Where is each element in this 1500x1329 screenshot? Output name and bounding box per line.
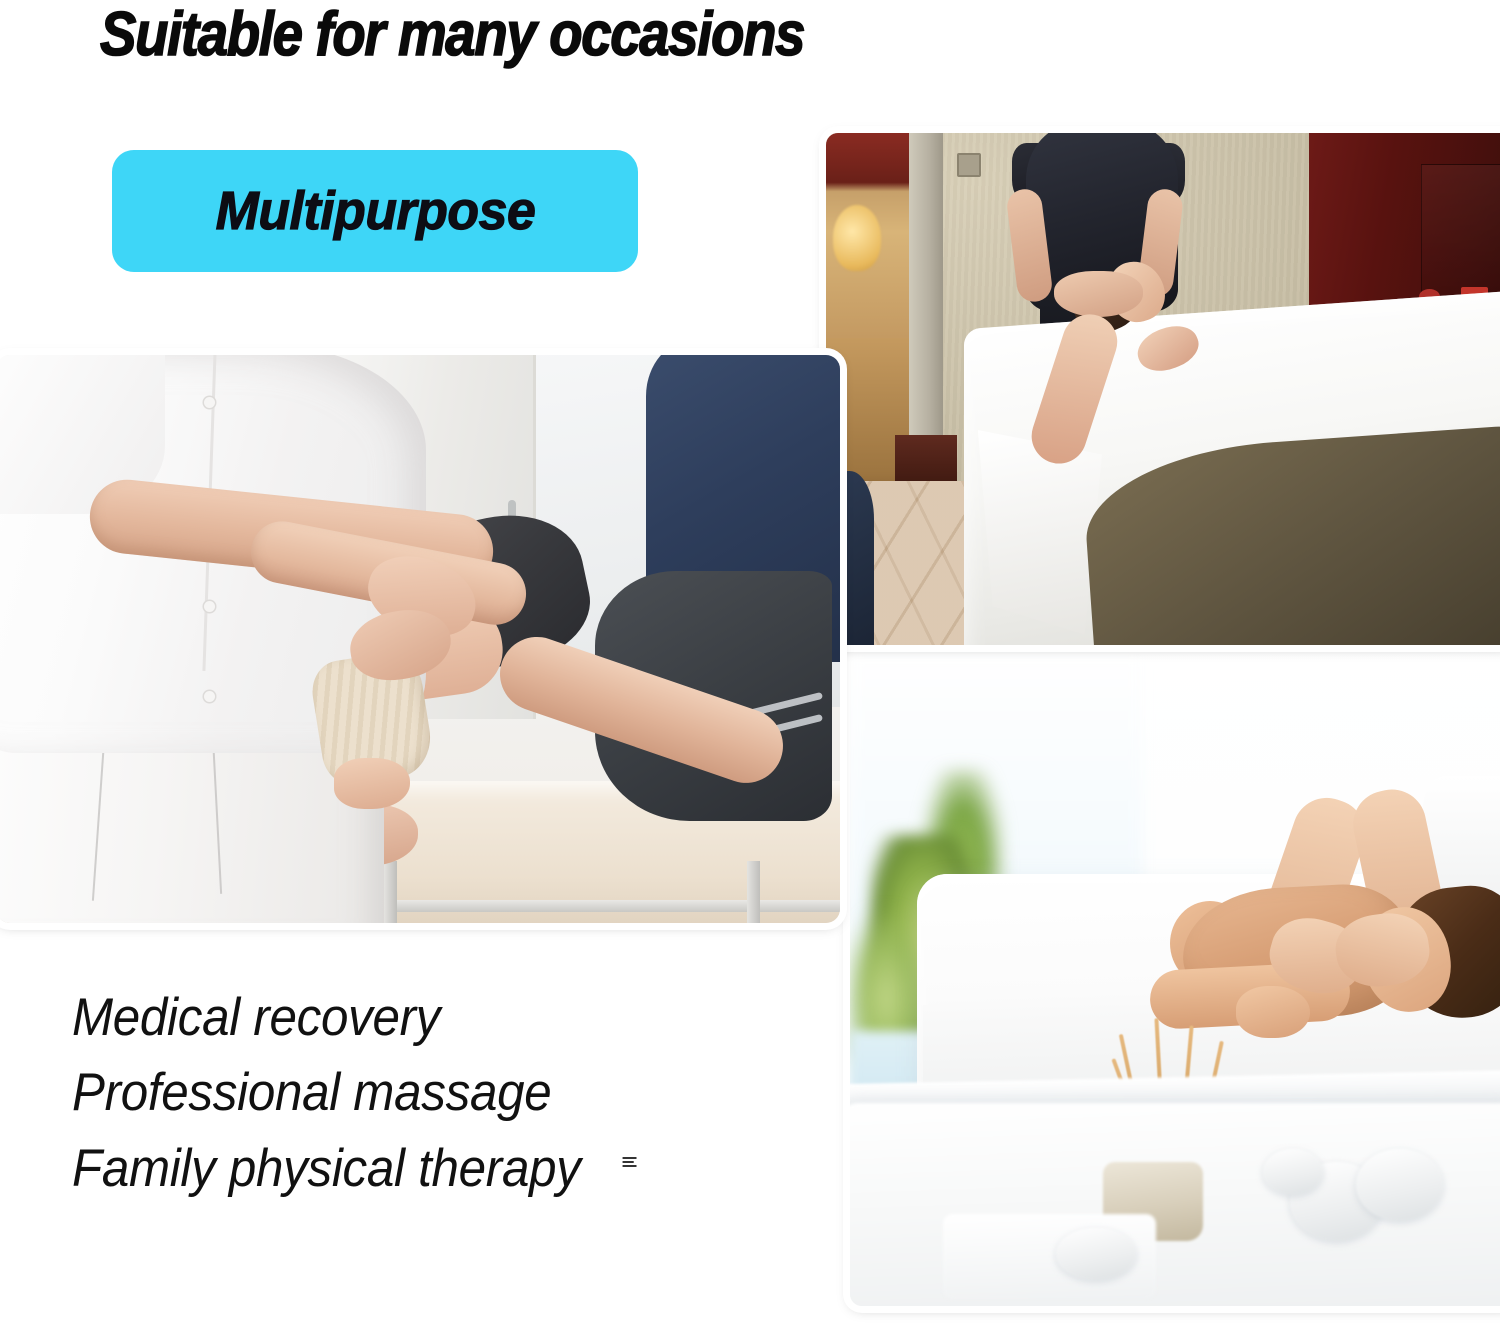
occasion-item-professional-massage: Professional massage bbox=[72, 1055, 581, 1130]
page-title: Suitable for many occasions bbox=[100, 0, 804, 71]
occasion-item-medical-recovery: Medical recovery bbox=[72, 980, 581, 1055]
spa-face-neck-massage-photo bbox=[826, 133, 1500, 645]
physical-therapy-ankle-bandage-photo bbox=[0, 355, 840, 923]
occasion-item-family-physical-therapy: Family physical therapy bbox=[72, 1131, 581, 1206]
outdoor-back-massage-photo bbox=[850, 652, 1500, 1306]
product-feature-panel: Suitable for many occasions Multipurpose bbox=[0, 0, 1500, 1329]
multipurpose-badge-label: Multipurpose bbox=[215, 180, 535, 242]
text-artifact-mark bbox=[623, 1157, 637, 1168]
occasion-list: Medical recovery Professional massage Fa… bbox=[72, 980, 619, 1206]
multipurpose-badge: Multipurpose bbox=[112, 150, 638, 272]
occasion-item-label: Family physical therapy bbox=[72, 1139, 581, 1198]
